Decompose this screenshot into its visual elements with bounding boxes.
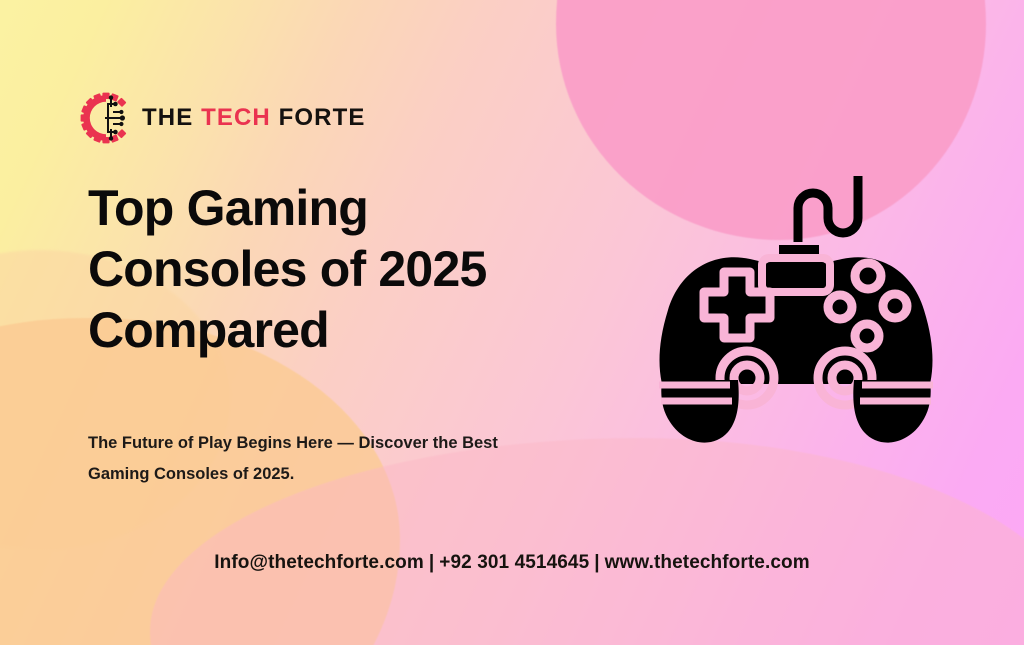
contact-email[interactable]: Info@thetechforte.com xyxy=(214,552,424,573)
banner-content: THE TECH FORTE Top Gaming Consoles of 20… xyxy=(0,0,1024,645)
contact-bar: Info@thetechforte.com|+92 301 4514645|ww… xyxy=(0,552,1024,574)
gear-circuit-logo-icon xyxy=(80,92,132,144)
contact-separator-2: | xyxy=(589,552,604,573)
logo-word-forte: FORTE xyxy=(279,104,366,131)
contact-website[interactable]: www.thetechforte.com xyxy=(605,552,810,573)
contact-separator-1: | xyxy=(424,552,439,573)
brand-logo[interactable]: THE TECH FORTE xyxy=(80,92,365,144)
headline-line-3: Compared xyxy=(88,302,329,358)
subheading-line-1: The Future of Play Begins Here — Discove… xyxy=(88,434,498,452)
headline-line-2: Consoles of 2025 xyxy=(88,241,486,297)
brand-logo-text: THE TECH FORTE xyxy=(142,106,365,130)
logo-word-the: THE xyxy=(142,104,193,131)
logo-word-tech: TECH xyxy=(201,104,271,131)
game-controller-illustration xyxy=(646,170,946,455)
subheading-line-2: Gaming Consoles of 2025. xyxy=(88,465,294,483)
page-title: Top Gaming Consoles of 2025 Compared xyxy=(88,178,588,361)
subheading: The Future of Play Begins Here — Discove… xyxy=(88,428,608,489)
promo-banner: THE TECH FORTE Top Gaming Consoles of 20… xyxy=(0,0,1024,645)
headline-line-1: Top Gaming xyxy=(88,180,368,236)
contact-phone[interactable]: +92 301 4514645 xyxy=(439,552,589,573)
